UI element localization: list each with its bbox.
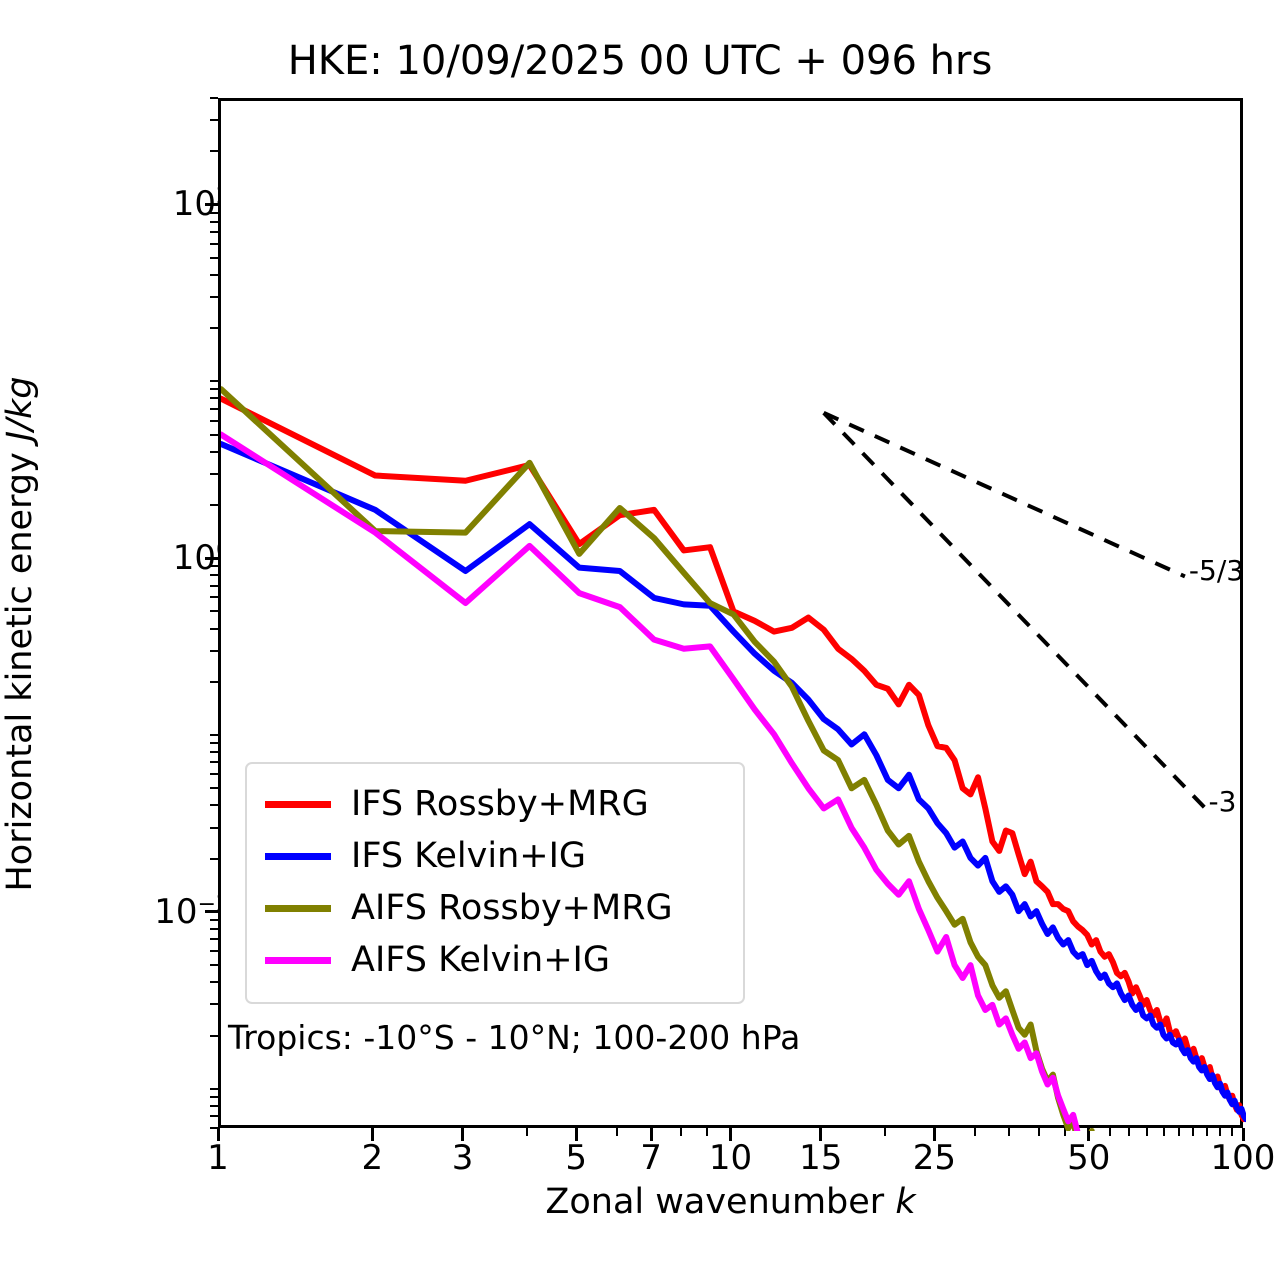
y-minor-tick bbox=[210, 221, 218, 223]
reference-line-1 bbox=[824, 413, 1205, 808]
y-minor-tick bbox=[210, 681, 218, 683]
y-minor-tick bbox=[210, 596, 218, 598]
legend-label: AIFS Rossby+MRG bbox=[351, 891, 673, 926]
y-minor-tick bbox=[210, 408, 218, 410]
y-minor-tick bbox=[210, 964, 218, 966]
y-minor-tick bbox=[210, 574, 218, 576]
legend-item-1[interactable]: IFS Kelvin+IG bbox=[265, 830, 725, 882]
y-minor-tick bbox=[210, 734, 218, 736]
y-minor-tick bbox=[210, 119, 218, 121]
x-axis-label-text: Zonal wavenumber bbox=[545, 1182, 884, 1222]
region-annotation: Tropics: -10°S - 10°N; 100-200 hPa bbox=[228, 1018, 800, 1057]
x-tick-label: 5 bbox=[565, 1138, 587, 1178]
legend-item-0[interactable]: IFS Rossby+MRG bbox=[265, 778, 725, 830]
y-minor-tick bbox=[210, 565, 218, 567]
x-tick-label: 10 bbox=[709, 1138, 752, 1178]
y-minor-tick bbox=[210, 751, 218, 753]
x-axis-label: Zonal wavenumber k bbox=[218, 1182, 1243, 1222]
y-minor-tick bbox=[210, 473, 218, 475]
y-axis-label-text: Horizontal kinetic energy bbox=[0, 452, 40, 891]
y-axis-label: Horizontal kinetic energy J/kg bbox=[0, 119, 44, 1149]
reference-slope-lines bbox=[824, 413, 1205, 808]
legend-label: IFS Kelvin+IG bbox=[351, 839, 586, 874]
x-tick-label: 7 bbox=[640, 1138, 662, 1178]
y-minor-tick bbox=[210, 919, 218, 921]
y-minor-tick bbox=[210, 504, 218, 506]
y-minor-tick bbox=[210, 212, 218, 214]
y-minor-tick bbox=[210, 257, 218, 259]
x-tick-label: 50 bbox=[1067, 1138, 1110, 1178]
x-tick-label: 100 bbox=[1211, 1138, 1276, 1178]
legend-color-swatch bbox=[265, 957, 331, 964]
y-minor-tick bbox=[210, 804, 218, 806]
y-minor-tick bbox=[210, 1088, 218, 1090]
slope-label-1: -3 bbox=[1209, 785, 1237, 818]
y-minor-tick bbox=[210, 97, 218, 99]
y-minor-tick bbox=[210, 742, 218, 744]
y-minor-tick bbox=[210, 397, 218, 399]
legend-label: IFS Rossby+MRG bbox=[351, 787, 649, 822]
figure-canvas: HKE: 10/09/2025 00 UTC + 096 hrs Horizon… bbox=[0, 0, 1280, 1288]
legend: IFS Rossby+MRGIFS Kelvin+IGAIFS Rossby+M… bbox=[245, 762, 745, 1004]
y-minor-tick bbox=[210, 585, 218, 587]
y-minor-tick bbox=[210, 434, 218, 436]
x-tick-label: 2 bbox=[361, 1138, 383, 1178]
y-minor-tick bbox=[210, 231, 218, 233]
y-minor-tick bbox=[210, 761, 218, 763]
y-minor-tick bbox=[210, 1127, 218, 1129]
y-minor-tick bbox=[210, 628, 218, 630]
y-tick-mantissa: 10 bbox=[154, 892, 197, 932]
y-minor-tick bbox=[210, 773, 218, 775]
y-minor-tick bbox=[210, 150, 218, 152]
y-minor-tick bbox=[210, 1035, 218, 1037]
y-tick-mantissa: 10 bbox=[173, 538, 216, 578]
slope-label-0: -5/3 bbox=[1189, 554, 1244, 587]
y-minor-tick bbox=[210, 380, 218, 382]
reference-line-0 bbox=[824, 413, 1185, 577]
y-minor-tick bbox=[210, 827, 218, 829]
y-minor-tick bbox=[210, 327, 218, 329]
x-tick-label: 3 bbox=[452, 1138, 474, 1178]
y-minor-tick bbox=[210, 274, 218, 276]
y-minor-tick bbox=[210, 1115, 218, 1117]
y-minor-tick bbox=[210, 420, 218, 422]
x-tick-label: 1 bbox=[207, 1138, 229, 1178]
x-tick-label: 25 bbox=[913, 1138, 956, 1178]
y-minor-tick bbox=[210, 650, 218, 652]
y-axis-label-units: J/kg bbox=[0, 376, 40, 441]
x-tick-label: 15 bbox=[799, 1138, 842, 1178]
legend-color-swatch bbox=[265, 853, 331, 860]
y-minor-tick bbox=[210, 858, 218, 860]
y-minor-tick bbox=[210, 388, 218, 390]
legend-item-3[interactable]: AIFS Kelvin+IG bbox=[265, 934, 725, 986]
legend-color-swatch bbox=[265, 905, 331, 912]
x-axis-label-symbol: k bbox=[895, 1182, 915, 1222]
y-minor-tick bbox=[210, 1096, 218, 1098]
y-minor-tick bbox=[210, 1105, 218, 1107]
y-tick-mantissa: 10 bbox=[173, 185, 216, 225]
y-minor-tick bbox=[210, 243, 218, 245]
legend-label: AIFS Kelvin+IG bbox=[351, 943, 610, 978]
page-title: HKE: 10/09/2025 00 UTC + 096 hrs bbox=[0, 38, 1280, 84]
y-minor-tick bbox=[210, 296, 218, 298]
y-minor-tick bbox=[210, 981, 218, 983]
y-minor-tick bbox=[210, 1003, 218, 1005]
legend-item-2[interactable]: AIFS Rossby+MRG bbox=[265, 882, 725, 934]
y-minor-tick bbox=[210, 610, 218, 612]
y-minor-tick bbox=[210, 787, 218, 789]
y-minor-tick bbox=[210, 451, 218, 453]
legend-color-swatch bbox=[265, 801, 331, 808]
y-minor-tick bbox=[210, 938, 218, 940]
y-minor-tick bbox=[210, 928, 218, 930]
y-minor-tick bbox=[210, 950, 218, 952]
